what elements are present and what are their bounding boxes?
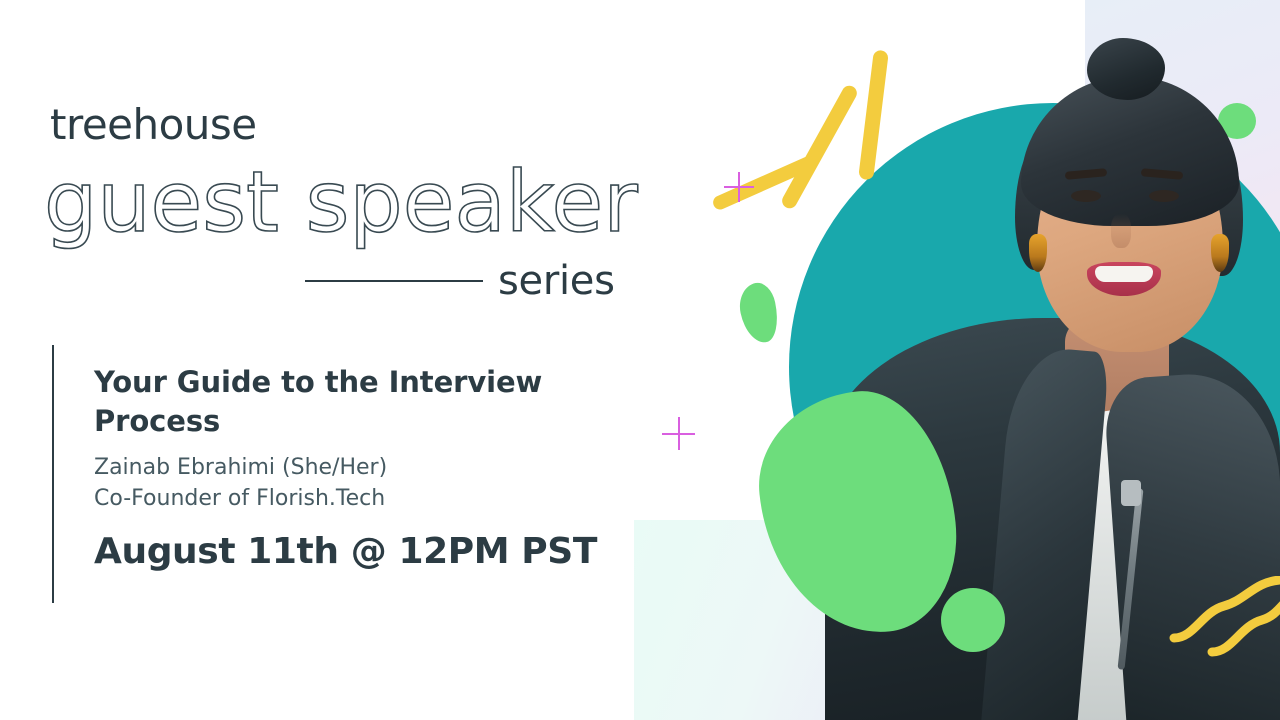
green-blob-small-shape bbox=[735, 280, 783, 346]
series-divider-rule bbox=[305, 280, 483, 282]
speaker-name: Zainab Ebrahimi (She/Her) bbox=[94, 440, 660, 483]
headline-outline-text: guest speaker bbox=[44, 160, 638, 244]
series-label: series bbox=[498, 261, 615, 301]
slide-text-content: treehouse guest speaker series Your Guid… bbox=[0, 0, 660, 720]
portrait-hair-bun bbox=[1087, 38, 1165, 100]
portrait-nose bbox=[1111, 214, 1131, 248]
guest-speaker-promo-slide: treehouse guest speaker series Your Guid… bbox=[0, 0, 1280, 720]
magenta-plus-icon bbox=[662, 417, 695, 450]
series-row: series bbox=[305, 258, 625, 304]
green-circle-shape bbox=[941, 588, 1005, 652]
magenta-plus-icon bbox=[724, 172, 754, 202]
event-datetime: August 11th @ 12PM PST bbox=[94, 515, 660, 570]
portrait-zipper-pull bbox=[1121, 480, 1141, 506]
portrait-teeth bbox=[1095, 266, 1153, 282]
portrait-eye-left bbox=[1071, 190, 1101, 202]
yellow-squiggle-icon bbox=[1168, 576, 1280, 686]
portrait-eye-right bbox=[1149, 190, 1179, 202]
talk-title: Your Guide to the Interview Process bbox=[94, 345, 660, 440]
speaker-role: Co-Founder of Florish.Tech bbox=[94, 483, 660, 514]
talk-details-block: Your Guide to the Interview Process Zain… bbox=[52, 345, 660, 603]
brand-wordmark: treehouse bbox=[50, 104, 257, 146]
